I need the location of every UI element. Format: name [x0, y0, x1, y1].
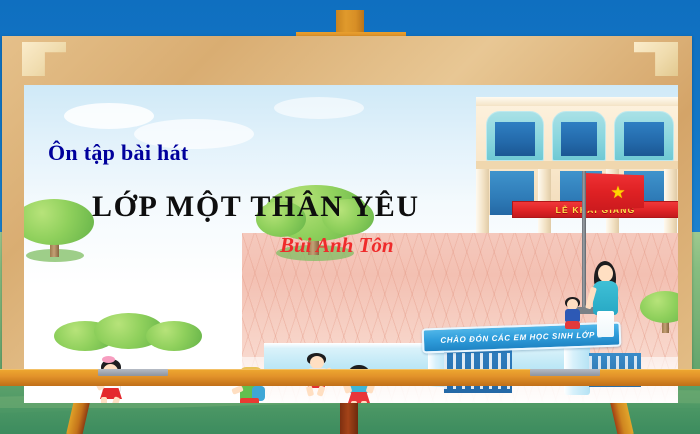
- slide-stage: LỄ KHAI GIẢNG ★: [0, 0, 700, 434]
- building-window: [552, 111, 606, 161]
- flag-star-icon: ★: [610, 184, 625, 201]
- building-window: [486, 111, 544, 161]
- child-leg: [351, 401, 357, 403]
- teacher-aodai: [593, 281, 618, 315]
- cloud: [64, 103, 154, 129]
- easel-frame: LỄ KHAI GIẢNG ★: [2, 36, 692, 374]
- child-leg: [361, 401, 367, 403]
- slide-board: LỄ KHAI GIẢNG ★: [24, 85, 678, 403]
- tree: [24, 197, 98, 267]
- building-window: [614, 111, 674, 161]
- tree: [640, 291, 678, 337]
- building-pillar: [476, 169, 489, 233]
- child-shorts: [565, 321, 580, 329]
- window-pane: [561, 122, 597, 156]
- bush-lobe: [146, 321, 202, 351]
- vietnam-flag-icon: ★: [586, 173, 644, 211]
- teacher-figure: [586, 261, 626, 337]
- tray-clip-right: [530, 369, 600, 376]
- child-leg: [317, 385, 326, 396]
- window-pane: [495, 122, 535, 156]
- tree-crown: [640, 291, 678, 323]
- tree-crown: [24, 199, 94, 245]
- tray-clip-left: [98, 369, 168, 376]
- window-pane: [624, 122, 664, 156]
- school-building-roof: [476, 97, 678, 106]
- hair-bow-icon: [102, 356, 115, 363]
- teacher-head: [598, 265, 613, 282]
- bush: [54, 313, 204, 357]
- cloud: [274, 97, 364, 119]
- teacher-trousers: [597, 311, 614, 337]
- slide-subtitle: Ôn tập bài hát: [48, 140, 189, 166]
- child-figure: [562, 297, 584, 333]
- slide-author: Bùi Anh Tôn: [280, 233, 394, 258]
- child-shorts: [240, 398, 259, 403]
- school-building-band: [476, 161, 678, 169]
- slide-title: LỚP MỘT THÂN YÊU: [92, 190, 420, 224]
